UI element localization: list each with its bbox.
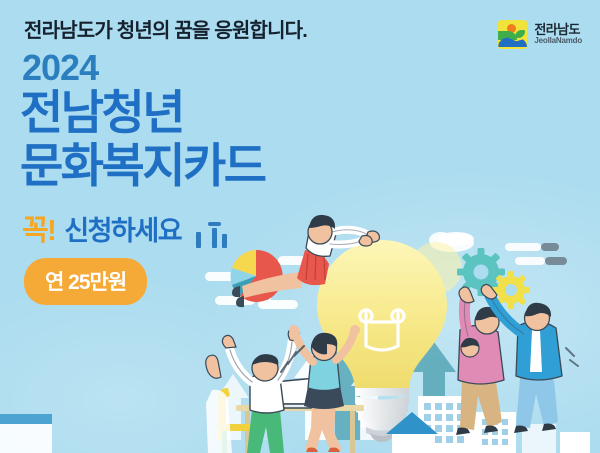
cta-main-text: 신청하세요 [64, 209, 181, 248]
poster-year: 2024 [22, 50, 98, 86]
jeollanamdo-logo-mark [498, 20, 527, 49]
poster-headline-line1: 전남청년 [20, 88, 183, 138]
leaf-icon [515, 30, 525, 38]
cta-accent-text: 꼭! [22, 207, 55, 249]
call-to-action: 꼭! 신청하세요 [22, 207, 181, 249]
promotional-poster: 전라남도가 청년의 꿈을 응원합니다. 2024 전남청년 문화복지카드 꼭! … [0, 0, 600, 453]
jeollanamdo-logo: 전라남도 JeollaNamdo [498, 20, 582, 49]
logo-wordmark: 전라남도 JeollaNamdo [534, 23, 582, 45]
amount-badge: 연 25만원 [24, 258, 147, 305]
logo-name-english: JeollaNamdo [534, 37, 582, 45]
poster-headline-line2: 문화복지카드 [20, 141, 264, 191]
logo-name-korean: 전라남도 [534, 23, 582, 37]
poster-tagline: 전라남도가 청년의 꿈을 응원합니다. [24, 14, 307, 43]
